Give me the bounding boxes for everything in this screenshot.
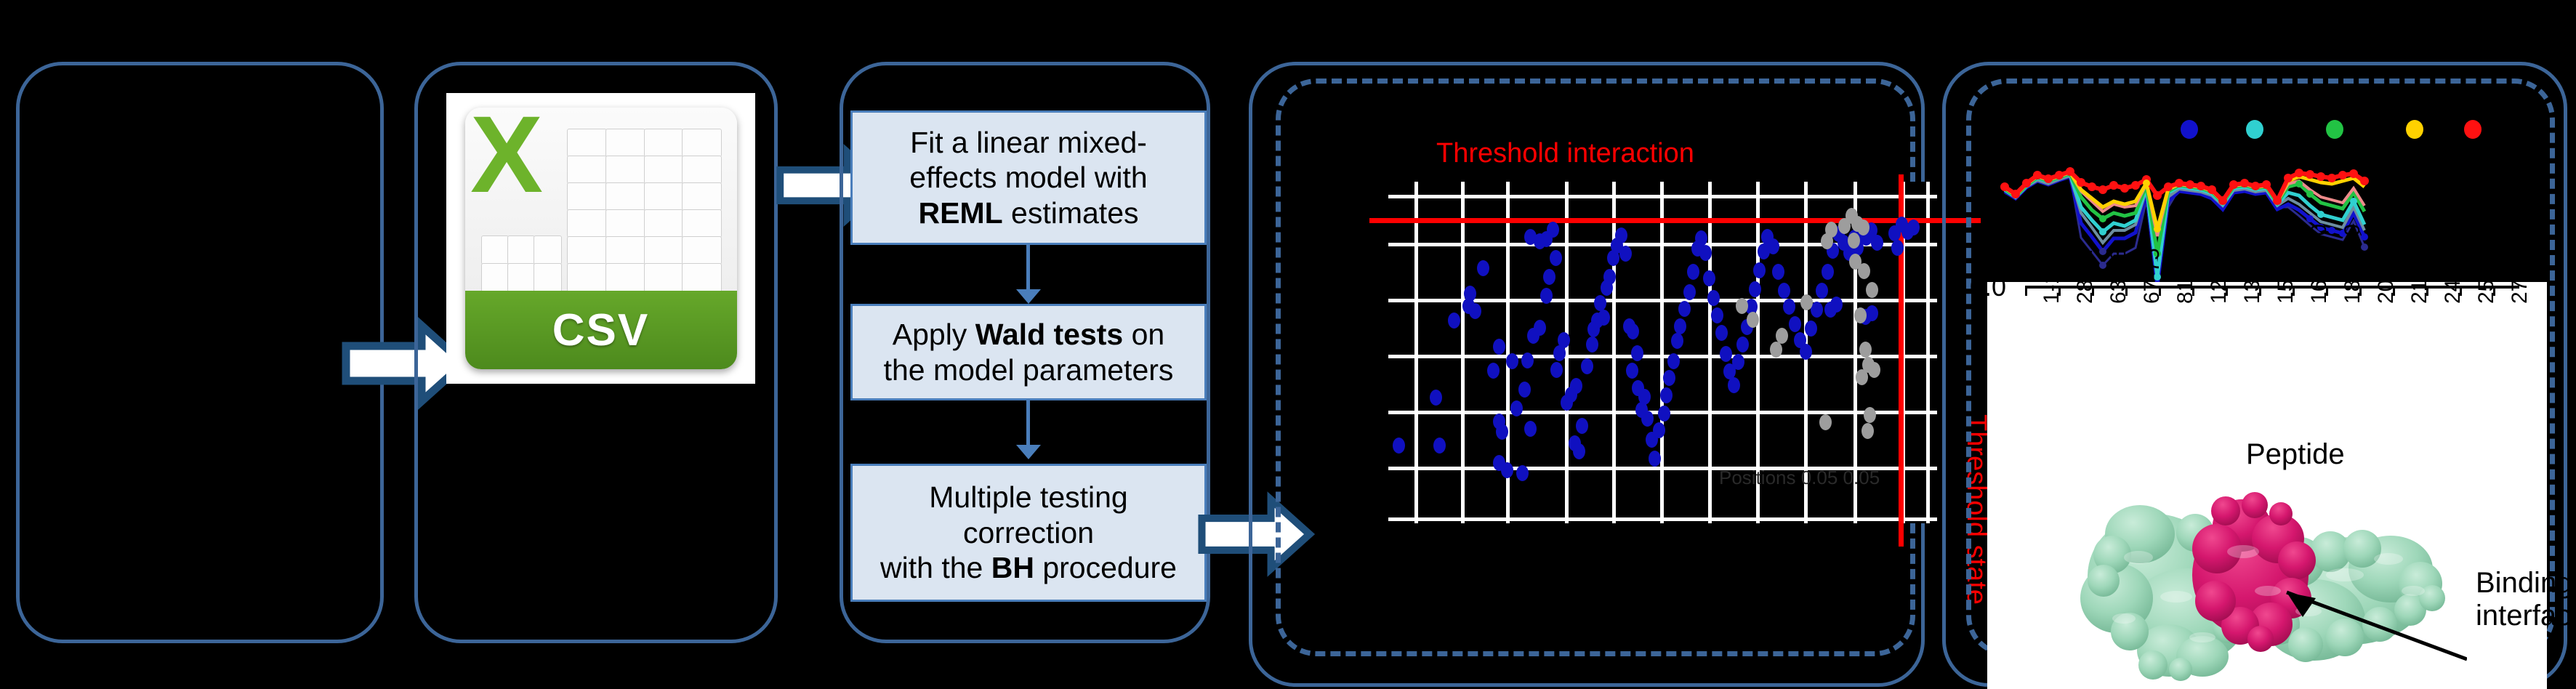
x-tick-label: 122-129 (2207, 224, 2231, 304)
legend-dot-blue (2181, 120, 2198, 139)
binding-interface-label: Binding interface (2476, 567, 2576, 632)
panel-input-data (16, 62, 384, 643)
x-tick-label: 135-144 (2240, 224, 2265, 304)
x-tick-label: 158-166 (2274, 224, 2298, 304)
step-multiple-testing-box: Multiple testing correction with the BH … (850, 464, 1207, 602)
step-fit-model-text: Fit a linear mixed- effects model with R… (909, 125, 1147, 230)
legend-dot-cyan (2246, 120, 2263, 139)
x-tick-label: 167-180 (2307, 224, 2332, 304)
connector-2 (1026, 400, 1030, 450)
x-tick-label: 81-101 (2173, 236, 2198, 304)
pipeline-figure: X CSV Fit a linear mixed- effects model … (0, 0, 2576, 687)
protein-complex-figure (2060, 482, 2467, 685)
x-tick-label: 258-266 (2474, 224, 2499, 304)
x-tick-label: 67-75 (2140, 248, 2165, 304)
x-axis-title: Peptide (2246, 438, 2345, 471)
x-tick-label: 218-237 (2407, 224, 2432, 304)
threshold-interaction-label: Threshold interaction (1436, 138, 1694, 169)
connector-2-head (1016, 445, 1041, 459)
x-tick-label: 277-284 (2508, 224, 2532, 304)
legend-dot-green (2326, 120, 2343, 139)
x-tick-label: 63-73 (2106, 248, 2131, 304)
legend-dot-yellow (2406, 120, 2423, 139)
step-wald-tests-text: Apply Wald tests on the model parameters (884, 317, 1174, 387)
connector-1 (1026, 245, 1030, 294)
step-fit-model-box: Fit a linear mixed- effects model with R… (850, 110, 1207, 245)
x-tick-label: 184-199 (2340, 224, 2365, 304)
csv-file-icon: X CSV (446, 93, 755, 384)
csv-band-label: CSV (552, 305, 649, 356)
connector-1-head (1016, 289, 1041, 304)
volcano-scatter-plot: Threshold interaction Threshold state (1323, 109, 1890, 632)
ghost-axis-text: Positions 0.05 0.05 (1719, 467, 1880, 489)
peptide-axis-and-structure-card: 0.0 1-15 28-44 63-73 67-75 81-101 122-12… (1987, 282, 2547, 689)
scatter-plot-area: Positions 0.05 0.05 (1388, 182, 1937, 523)
legend-dot-red (2464, 120, 2482, 139)
step-wald-tests-box: Apply Wald tests on the model parameters (850, 304, 1207, 400)
x-tick-label: 1-15 (2040, 260, 2064, 304)
step-multiple-testing-text: Multiple testing correction with the BH … (880, 480, 1177, 585)
excel-x-letter: X (470, 108, 590, 265)
x-tick-label: 241-257 (2441, 224, 2466, 304)
csv-band: CSV (465, 291, 737, 369)
x-tick-label: 200-214 (2374, 224, 2399, 304)
x-tick-label: 28-44 (2073, 248, 2098, 304)
threshold-interaction-line (1369, 218, 1981, 223)
